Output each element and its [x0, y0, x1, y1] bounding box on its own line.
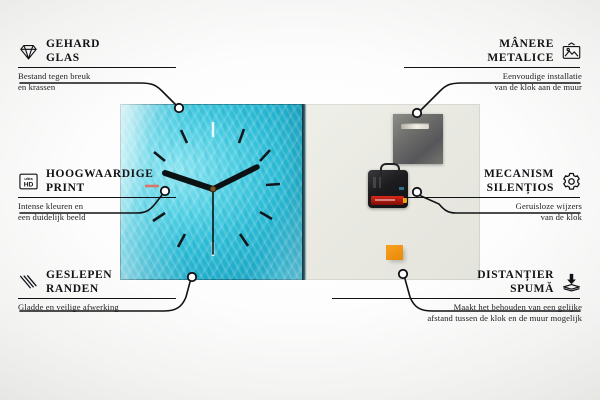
callout-rule — [404, 197, 580, 198]
gear-icon — [561, 171, 582, 192]
callout-title-line-1: GEHARD — [46, 38, 100, 52]
callout-header: GESLEPEN RANDEN — [18, 269, 178, 296]
callout-title-line-2: SILENȚIOS — [404, 182, 554, 196]
callout-manere-metalice: MÂNERE METALICE Eenvoudige installatie v… — [404, 38, 582, 92]
diamond-icon — [18, 41, 39, 62]
bevelled-edges-icon — [18, 272, 39, 293]
svg-text:HD: HD — [24, 181, 34, 188]
callout-title-line-2: METALICE — [404, 52, 554, 66]
callout-distantier-spuma: DISTANȚIER SPUMĂ Maakt het behouden van … — [332, 269, 582, 323]
ultra-hd-icon: ultra HD — [18, 171, 39, 192]
mechanism-detail — [373, 177, 389, 188]
callout-header: DISTANȚIER SPUMĂ — [332, 269, 582, 296]
callout-desc-line-1: Gladde en veilige afwerking — [18, 302, 178, 312]
clock-mechanism-box — [368, 170, 408, 208]
mechanism-hanger-loop — [380, 163, 400, 175]
callout-gehard-glas: GEHARD GLAS Bestand tegen breuk en krass… — [18, 38, 178, 92]
callout-title-line-1: DISTANȚIER — [332, 269, 554, 283]
callout-title-line-2: GLAS — [46, 52, 100, 66]
hanger-slot — [401, 123, 429, 129]
infographic-canvas: GEHARD GLAS Bestand tegen breuk en krass… — [0, 0, 600, 400]
callout-title-line-2: RANDEN — [46, 283, 112, 297]
battery-label — [375, 199, 395, 201]
callout-desc-line-1: Geruisloze wijzers — [404, 201, 582, 211]
callout-rule — [332, 298, 580, 299]
callout-title-line-2: PRINT — [46, 182, 154, 196]
callout-desc-line-1: Bestand tegen breuk — [18, 71, 178, 81]
callout-title-line-1: MECANISM — [404, 168, 554, 182]
callout-title-line-1: GESLEPEN — [46, 269, 112, 283]
callout-mecanism-silentios: MECANISM SILENȚIOS Geruisloze wijzers va… — [404, 168, 582, 222]
callout-hoogwaardige-print: ultra HD HOOGWAARDIGE PRINT Intense kleu… — [18, 168, 178, 222]
battery — [371, 196, 404, 205]
callout-desc-line-2: en krassen — [18, 82, 178, 92]
callout-geslepen-randen: GESLEPEN RANDEN Gladde en veilige afwerk… — [18, 269, 178, 313]
callout-desc-line-2: afstand tussen de klok en de muur mogeli… — [332, 313, 582, 323]
callout-desc-line-1: Eenvoudige installatie — [404, 71, 582, 81]
callout-desc-line-2: van de klok — [404, 212, 582, 222]
callout-header: GEHARD GLAS — [18, 38, 178, 65]
callout-desc-line-2: van de klok aan de muur — [404, 82, 582, 92]
callout-header: MECANISM SILENȚIOS — [404, 168, 582, 195]
metal-hanger-plate — [393, 114, 443, 164]
spacer-pad-icon — [561, 272, 582, 293]
callout-title-line-1: HOOGWAARDIGE — [46, 168, 154, 182]
callout-rule — [18, 67, 176, 68]
svg-text:ultra: ultra — [24, 177, 33, 181]
foam-spacer — [386, 245, 403, 260]
callout-rule — [404, 67, 580, 68]
callout-desc-line-1: Intense kleuren en — [18, 201, 178, 211]
callout-desc-line-1: Maakt het behouden van een gelijke — [332, 302, 582, 312]
picture-hanger-icon — [561, 41, 582, 62]
callout-rule — [18, 298, 176, 299]
callout-title-line-2: SPUMĂ — [332, 283, 554, 297]
callout-header: ultra HD HOOGWAARDIGE PRINT — [18, 168, 178, 195]
callout-title-line-1: MÂNERE — [404, 38, 554, 52]
callout-desc-line-2: een duidelijk beeld — [18, 212, 178, 222]
callout-rule — [18, 197, 176, 198]
callout-header: MÂNERE METALICE — [404, 38, 582, 65]
